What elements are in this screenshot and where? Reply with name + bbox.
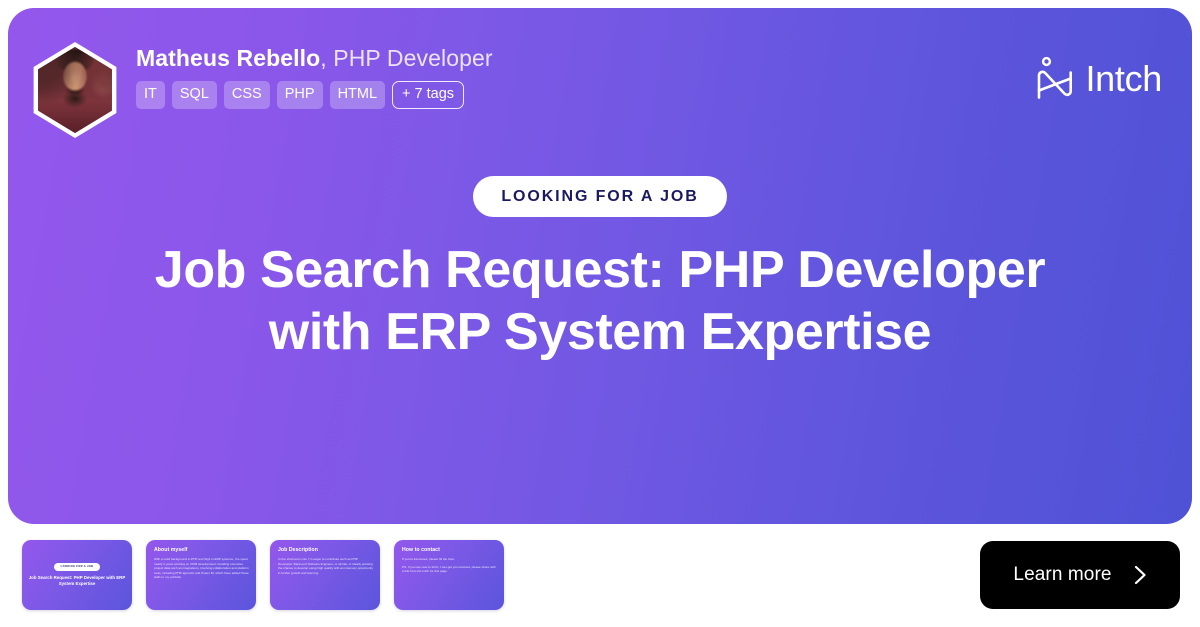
hero-card: Matheus Rebello, PHP Developer IT SQL CS…	[8, 8, 1192, 524]
brand-name: Intch	[1085, 61, 1162, 97]
thumbnail-body: In the short-term role, I'm eager to con…	[278, 557, 373, 575]
learn-more-button[interactable]: Learn more	[980, 541, 1180, 609]
thumbnail-strip: LOOKING FOR A JOB Job Search Request: PH…	[22, 540, 504, 610]
thumbnail-title: About myself	[154, 547, 249, 554]
tag-chip[interactable]: SQL	[172, 81, 217, 109]
chevron-right-icon	[1134, 565, 1147, 585]
learn-more-label: Learn more	[1013, 564, 1111, 586]
profile-name: Matheus Rebello	[136, 45, 320, 71]
more-tags-chip[interactable]: + 7 tags	[392, 81, 464, 109]
thumbnail-slide-4[interactable]: How to contact If you're interested, ple…	[394, 540, 504, 610]
tag-chip[interactable]: IT	[136, 81, 165, 109]
intch-logo-icon	[1034, 56, 1074, 102]
thumbnail-body-line: PS. If you are new to Intch, I can get y…	[402, 565, 497, 574]
hero-content: LOOKING FOR A JOB Job Search Request: PH…	[8, 176, 1192, 363]
thumbnail-slide-2[interactable]: About myself With a solid background in …	[146, 540, 256, 610]
thumbnail-title: How to contact	[402, 547, 497, 554]
promo-card-page: Matheus Rebello, PHP Developer IT SQL CS…	[0, 0, 1200, 627]
thumbnail-body: With a solid background in PHP and SQL i…	[154, 557, 249, 580]
status-badge: LOOKING FOR A JOB	[473, 176, 726, 217]
brand-logo: Intch	[1034, 56, 1162, 102]
thumbnail-title: Job Description	[278, 547, 373, 554]
thumbnail-badge: LOOKING FOR A JOB	[54, 563, 101, 570]
thumbnail-slide-3[interactable]: Job Description In the short-term role, …	[270, 540, 380, 610]
hero-header: Matheus Rebello, PHP Developer IT SQL CS…	[8, 8, 1192, 158]
thumbnail-title: Job Search Request: PHP Developer with E…	[28, 575, 126, 587]
tag-chip[interactable]: HTML	[330, 81, 385, 109]
thumbnail-body: If you're interested, please fill the fo…	[402, 557, 497, 574]
profile-tags: IT SQL CSS PHP HTML + 7 tags	[136, 81, 493, 109]
avatar	[30, 42, 120, 138]
page-title: Job Search Request: PHP Developer with E…	[120, 239, 1080, 363]
profile-name-line: Matheus Rebello, PHP Developer	[136, 44, 493, 72]
profile-text: Matheus Rebello, PHP Developer IT SQL CS…	[136, 40, 493, 109]
profile-role-separator: ,	[320, 45, 333, 71]
tag-chip[interactable]: PHP	[277, 81, 323, 109]
thumbnail-body-line: If you're interested, please fill the fo…	[402, 557, 497, 562]
thumbnail-slide-1[interactable]: LOOKING FOR A JOB Job Search Request: PH…	[22, 540, 132, 610]
profile-role: PHP Developer	[333, 45, 492, 71]
tag-chip[interactable]: CSS	[224, 81, 270, 109]
profile-identity: Matheus Rebello, PHP Developer IT SQL CS…	[30, 40, 1034, 138]
